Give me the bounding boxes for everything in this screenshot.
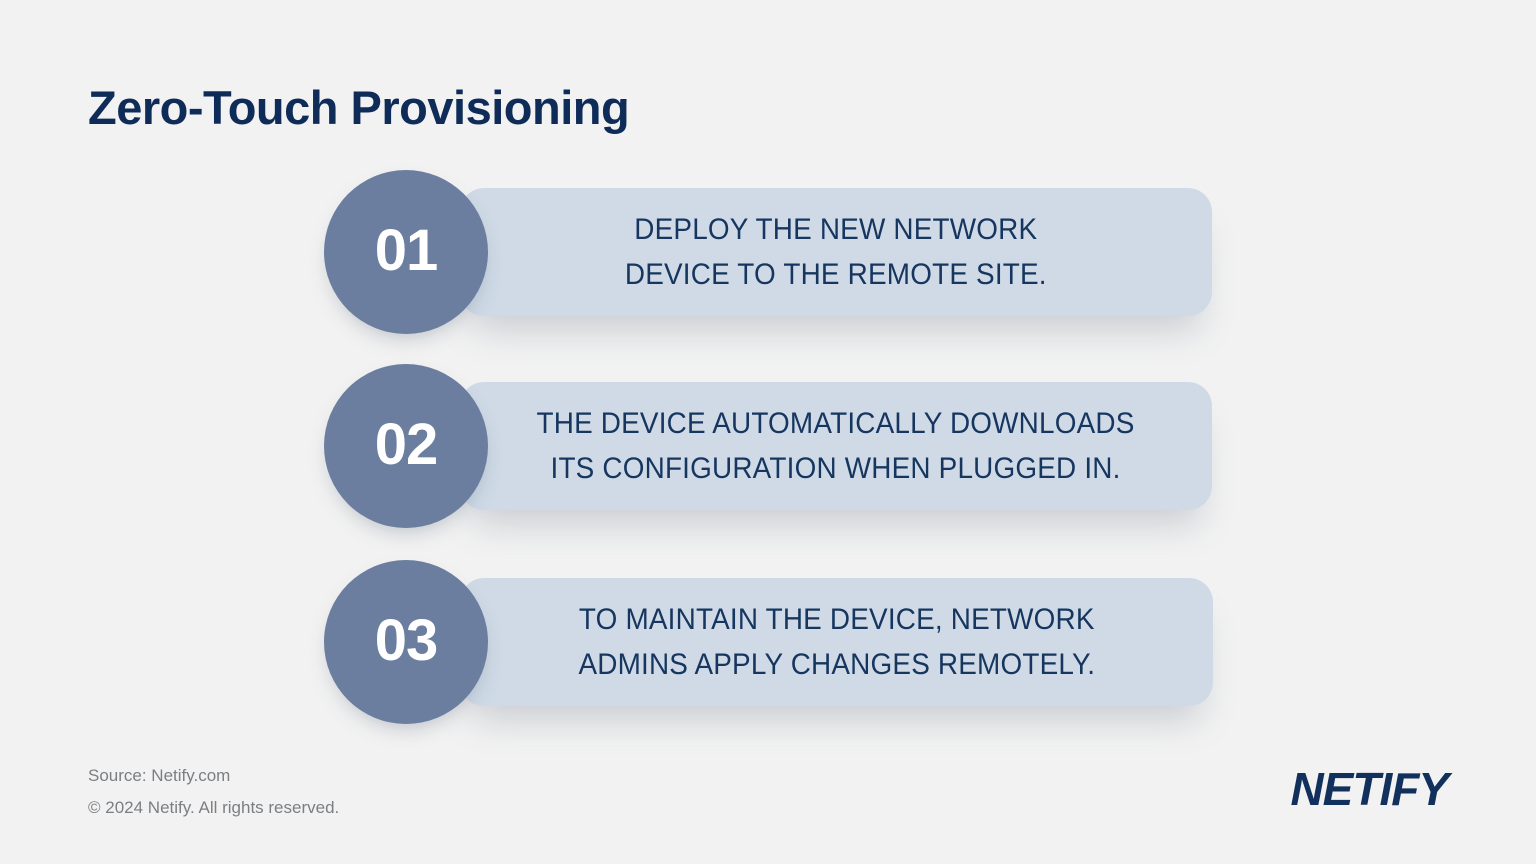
step-text-03: TO MAINTAIN THE DEVICE, NETWORK ADMINS A…: [561, 597, 1111, 687]
step-number-01: 01: [375, 222, 438, 280]
netify-logo: NETIFY: [1290, 766, 1448, 812]
step-bar-02: THE DEVICE AUTOMATICALLY DOWNLOADS ITS C…: [460, 382, 1212, 510]
step-number-02: 02: [375, 416, 438, 474]
step-badge-03: 03: [324, 560, 488, 724]
page-title: Zero-Touch Provisioning: [88, 82, 629, 134]
footer-credits: Source: Netify.com © 2024 Netify. All ri…: [88, 760, 339, 824]
step-number-03: 03: [375, 612, 438, 670]
step-bar-03: TO MAINTAIN THE DEVICE, NETWORK ADMINS A…: [460, 578, 1213, 706]
step-badge-02: 02: [324, 364, 488, 528]
step-text-01: DEPLOY THE NEW NETWORK DEVICE TO THE REM…: [608, 207, 1063, 297]
step-bar-01: DEPLOY THE NEW NETWORK DEVICE TO THE REM…: [460, 188, 1212, 316]
step-badge-01: 01: [324, 170, 488, 334]
footer-copyright: © 2024 Netify. All rights reserved.: [88, 792, 339, 824]
infographic-canvas: Zero-Touch Provisioning DEPLOY THE NEW N…: [0, 0, 1536, 864]
footer-source: Source: Netify.com: [88, 760, 339, 792]
step-text-02: THE DEVICE AUTOMATICALLY DOWNLOADS ITS C…: [520, 401, 1152, 491]
